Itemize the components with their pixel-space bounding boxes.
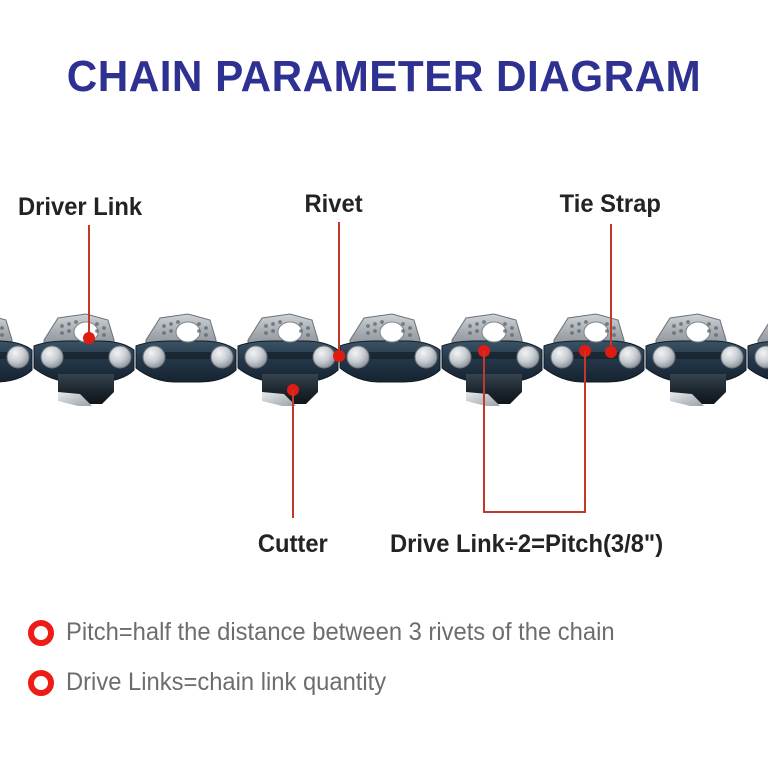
note-item-drive-links: Drive Links=chain link quantity	[28, 668, 403, 697]
leader-line-tie-strap	[610, 224, 612, 352]
chain-segments	[0, 314, 768, 382]
diagram-page: CHAIN PARAMETER DIAGRAM	[0, 0, 768, 768]
callout-label-tie-strap: Tie Strap	[560, 190, 661, 219]
callout-label-rivet: Rivet	[305, 190, 363, 219]
marker-dot-tie-strap	[605, 346, 617, 358]
marker-dot-driver-link	[83, 332, 95, 344]
marker-dot-rivet	[333, 350, 345, 362]
note-text-pitch: Pitch=half the distance between 3 rivets…	[66, 618, 615, 647]
callout-label-cutter: Cutter	[258, 530, 328, 559]
bracket-line-bottom	[483, 511, 586, 513]
bracket-line-left	[483, 351, 485, 513]
note-item-pitch: Pitch=half the distance between 3 rivets…	[28, 618, 643, 647]
callout-label-pitch-formula: Drive Link÷2=Pitch(3/8")	[390, 530, 663, 559]
leader-line-rivet	[338, 222, 340, 356]
leader-line-driver-link	[88, 225, 90, 337]
bracket-line-right	[584, 351, 586, 513]
callout-label-driver-link: Driver Link	[18, 193, 142, 222]
bullet-ring-icon	[28, 620, 54, 646]
chainsaw-chain-illustration	[0, 300, 768, 420]
note-text-drive-links: Drive Links=chain link quantity	[66, 668, 386, 697]
leader-line-cutter	[292, 390, 294, 518]
page-title: CHAIN PARAMETER DIAGRAM	[15, 52, 752, 102]
bullet-ring-icon	[28, 670, 54, 696]
